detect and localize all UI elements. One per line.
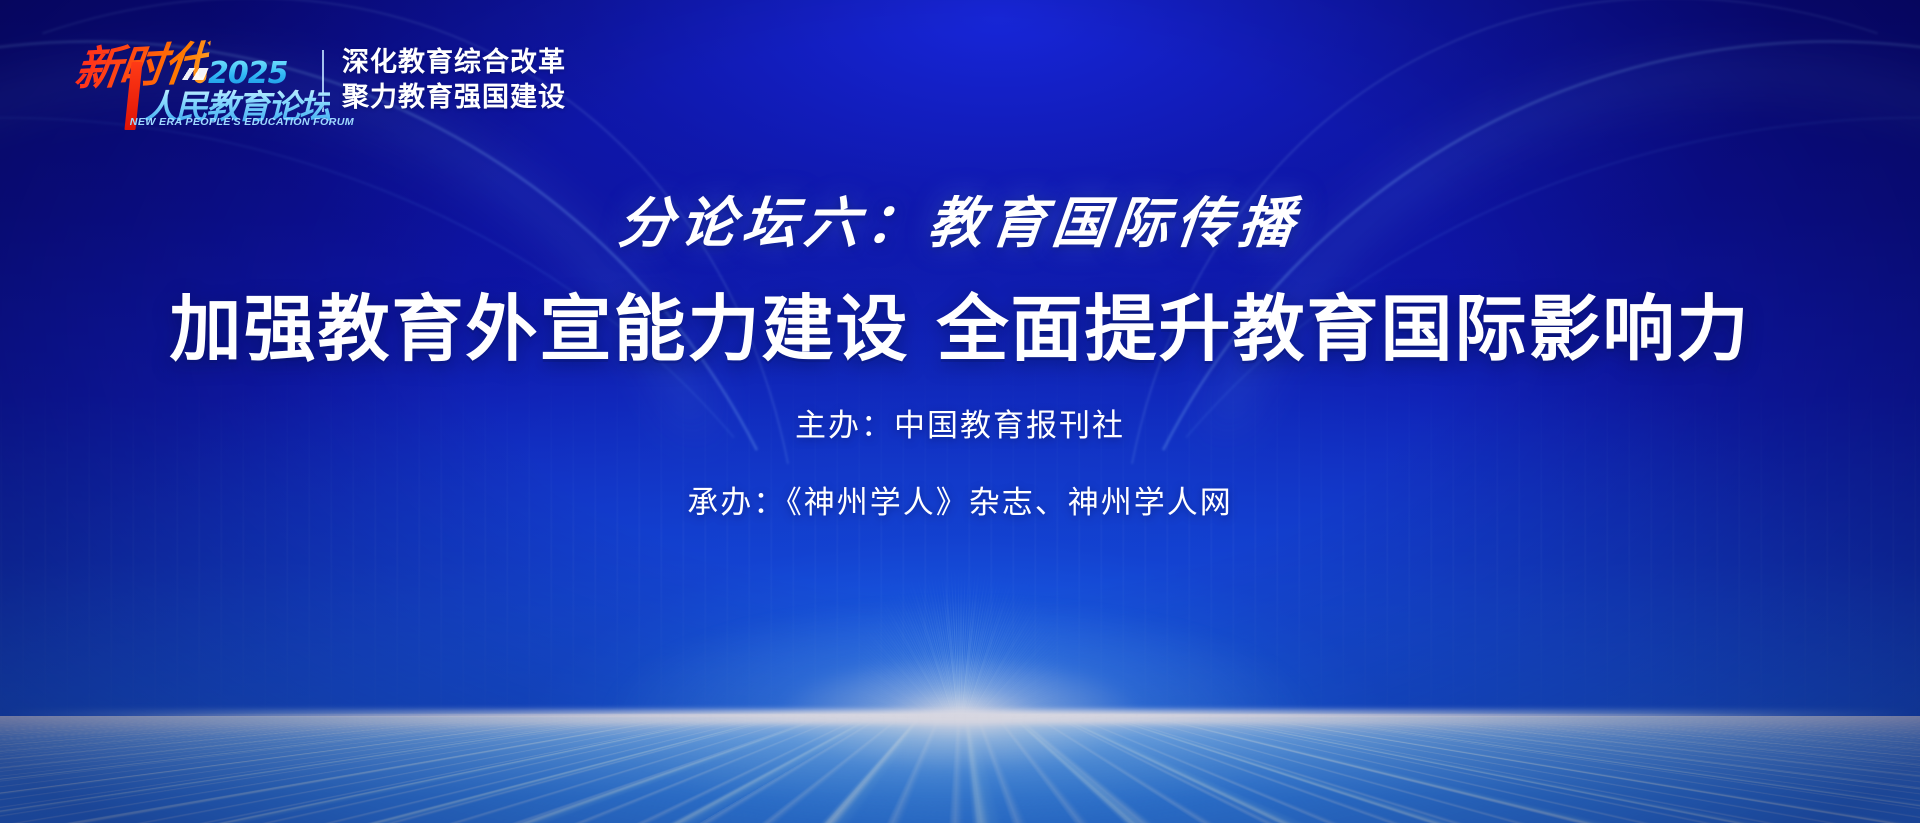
logo-english-name: NEW ERA PEOPLE'S EDUCATION FORUM — [130, 116, 354, 128]
organizer-host: 主办：中国教育报刊社 — [0, 400, 1920, 445]
organizer-block: 主办：中国教育报刊社 承办：《神州学人》杂志、神州学人网 — [0, 400, 1920, 522]
logo-slogan-line-2: 聚力教育强国建设 — [342, 81, 566, 116]
logo-slogan-line-1: 深化教育综合改革 — [342, 46, 566, 81]
main-headline: 加强教育外宣能力建设 全面提升教育国际影响力 — [0, 270, 1920, 375]
organizer-undertaker: 承办：《神州学人》杂志、神州学人网 — [0, 477, 1920, 522]
sub-forum-title: 分论坛六：教育国际传播 — [0, 178, 1920, 258]
logo-mark: 新时代 2025 人民教育论坛 NEW ERA PEOPLE'S EDUCATI… — [72, 28, 304, 132]
logo-slogan: 深化教育综合改革 聚力教育强国建设 — [342, 46, 566, 115]
forum-logo: 新时代 2025 人民教育论坛 NEW ERA PEOPLE'S EDUCATI… — [72, 28, 566, 132]
forum-banner: 新时代 2025 人民教育论坛 NEW ERA PEOPLE'S EDUCATI… — [0, 0, 1920, 823]
